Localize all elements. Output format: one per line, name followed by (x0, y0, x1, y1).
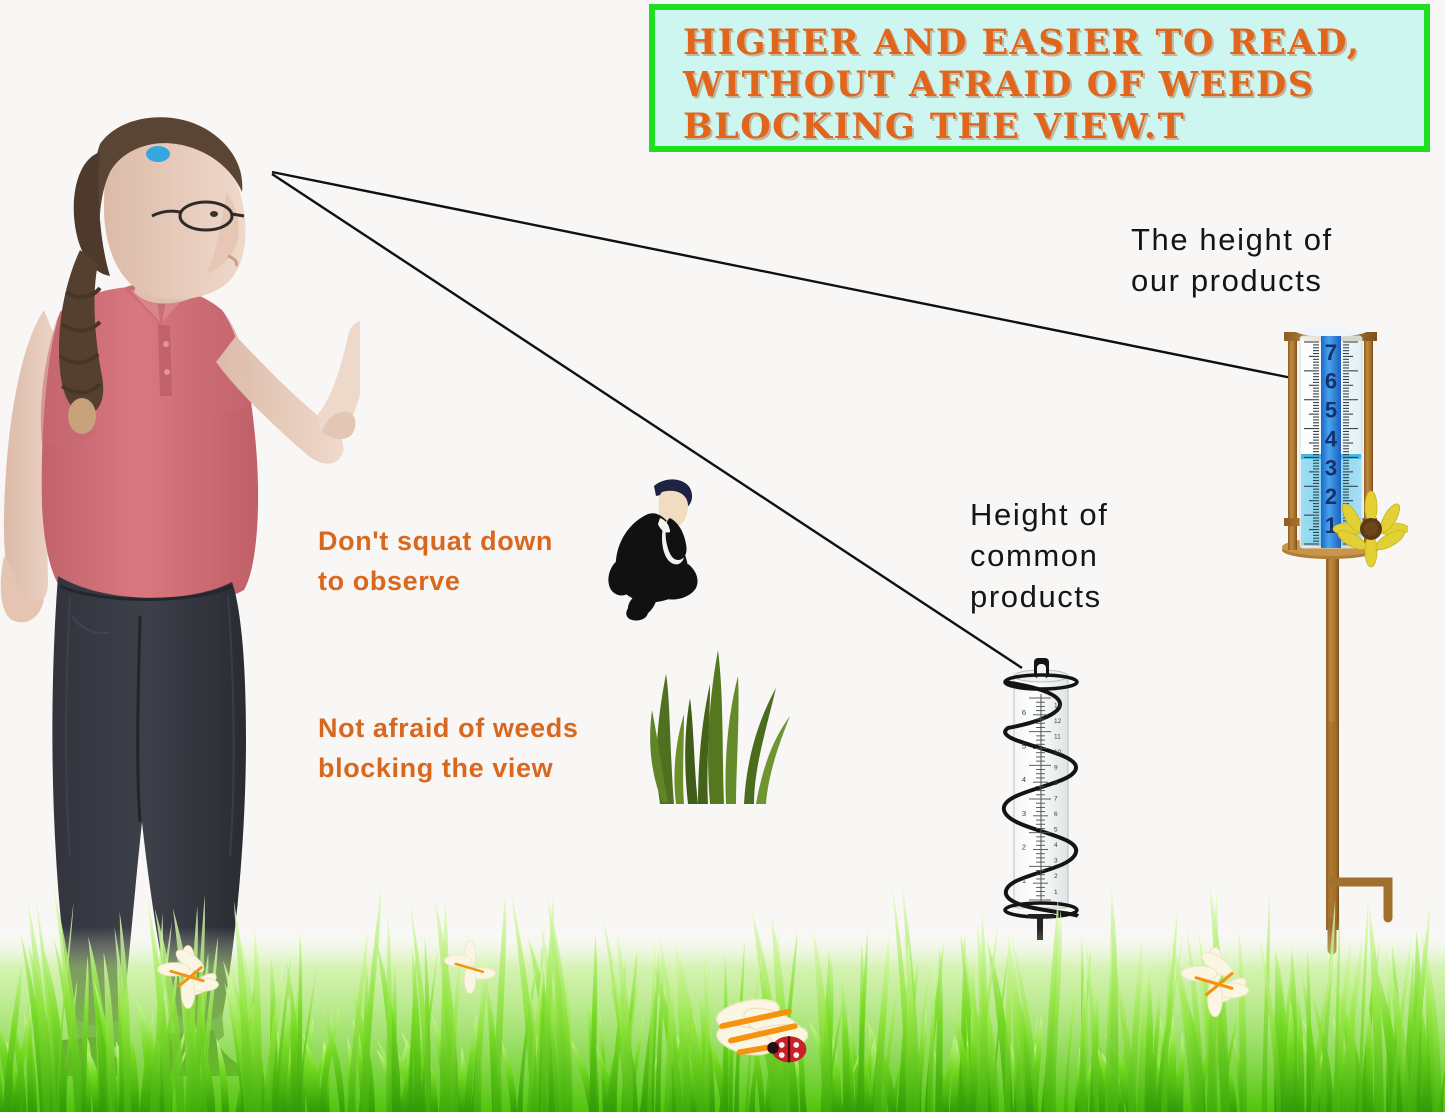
common-gauge-cm-numeral: 4 (1054, 842, 1058, 849)
common-gauge-inch-numeral: 5 (1022, 742, 1026, 751)
common-gauge-cm-numeral: 13 (1054, 702, 1062, 709)
squatting-man-silhouette (604, 474, 724, 624)
common-gauge-inch-numeral: 2 (1022, 843, 1026, 852)
infographic-canvas: Higher and easier to read, Without afrai… (0, 0, 1445, 1112)
common-gauge-cm-numeral: 8 (1054, 780, 1058, 787)
tall-gauge-numeral: 6 (1325, 369, 1337, 394)
label-not-afraid-of-weeds: Not afraid of weeds blocking the view (318, 708, 578, 788)
grass-field (0, 867, 1445, 1112)
common-gauge-cm-numeral: 11 (1054, 733, 1061, 740)
banner-line-1: Higher and easier to read, (683, 22, 1406, 64)
headline-banner: Higher and easier to read, Without afrai… (649, 4, 1430, 152)
label-dont-squat: Don't squat down to observe (318, 521, 553, 601)
tall-gauge-numeral: 3 (1325, 455, 1337, 480)
tall-gauge-numeral: 7 (1325, 340, 1337, 365)
common-gauge-inch-numeral: 4 (1022, 775, 1026, 784)
tall-rain-gauge: 7654321 (1268, 322, 1408, 962)
common-gauge-cm-numeral: 7 (1054, 796, 1058, 803)
common-gauge-inch-numeral: 3 (1022, 809, 1026, 818)
tall-gauge-numeral: 4 (1325, 426, 1338, 451)
common-gauge-inch-numeral: 6 (1022, 708, 1026, 717)
common-gauge-cm-numeral: 10 (1054, 749, 1062, 756)
weed-tuft (636, 636, 796, 806)
common-gauge-cm-numeral: 6 (1054, 811, 1058, 818)
tall-gauge-numeral: 2 (1325, 484, 1337, 509)
label-common-products: Height of common products (970, 494, 1108, 617)
tall-gauge-numeral: 5 (1325, 398, 1337, 423)
common-gauge-cm-numeral: 5 (1054, 827, 1058, 834)
common-gauge-cm-numeral: 12 (1054, 718, 1062, 725)
common-gauge-cm-numeral: 9 (1054, 764, 1058, 771)
common-gauge-cm-numeral: 3 (1054, 858, 1058, 865)
hair-clip (146, 146, 170, 162)
banner-line-3: blocking the view.T (683, 106, 1406, 148)
label-our-products: The height of our products (1131, 219, 1333, 301)
banner-line-2: Without afraid of weeds (683, 64, 1406, 106)
